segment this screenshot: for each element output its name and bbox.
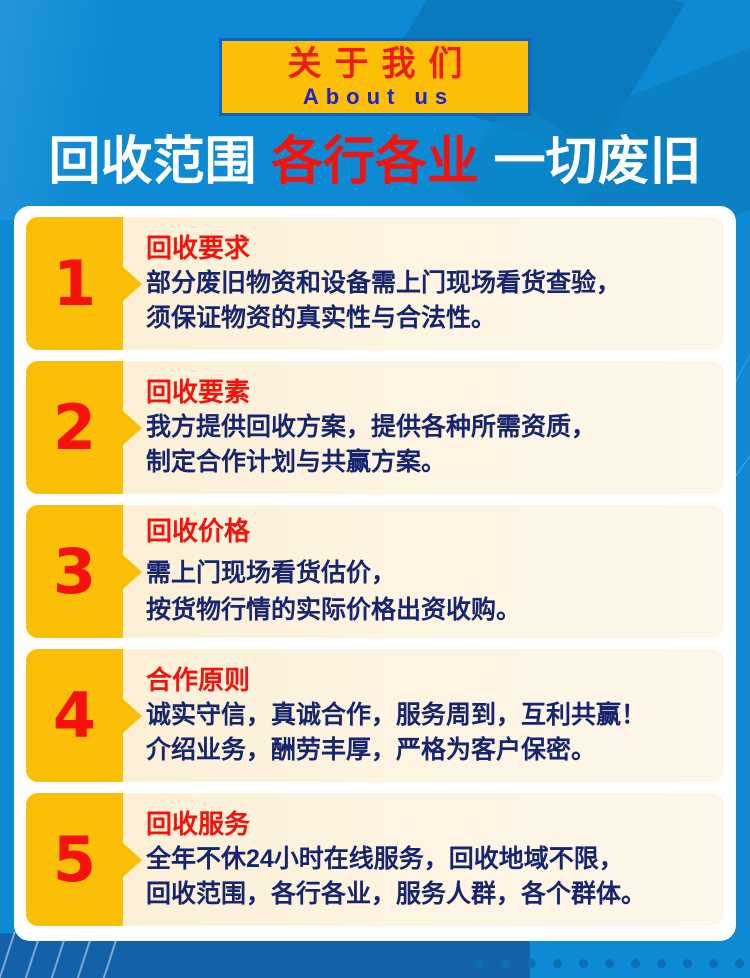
item-number: 2 [53,397,96,459]
list-item: 3 回收价格 需上门现场看货估价， 按货物行情的实际价格出资收购。 [26,505,724,638]
item-number: 3 [53,541,96,603]
headline-part-2: 各行各业 [271,133,479,191]
item-line-2: 须保证物资的真实性与合法性。 [146,301,710,336]
item-content: 回收价格 需上门现场看货估价， 按货物行情的实际价格出资收购。 [146,505,710,638]
badge-arrow-icon [123,411,142,445]
bottom-dots-pattern [475,959,744,968]
item-number: 5 [53,829,96,891]
badge-arrow-icon [123,699,142,733]
list-item: 2 回收要素 我方提供回收方案，提供各种所需资质， 制定合作计划与共赢方案。 [26,361,724,494]
item-content: 回收服务 全年不休24小时在线服务，回收地域不限， 回收范围，各行各业，服务人群… [146,793,710,926]
item-line-1: 部分废旧物资和设备需上门现场看货查验， [146,266,710,301]
badge-arrow-icon [123,555,142,589]
content-panel: 1 回收要求 部分废旧物资和设备需上门现场看货查验， 须保证物资的真实性与合法性… [14,206,736,941]
item-line-2: 回收范围，各行各业，服务人群，各个群体。 [146,877,710,912]
item-number: 4 [53,685,96,747]
item-number: 1 [53,253,96,315]
badge-arrow-icon [123,267,142,301]
list-item: 5 回收服务 全年不休24小时在线服务，回收地域不限， 回收范围，各行各业，服务… [26,793,724,926]
item-line-1: 全年不休24小时在线服务，回收地域不限， [146,842,710,877]
page-headline: 回收范围 各行各业 一切废旧 [0,131,750,193]
item-title: 回收价格 [146,515,710,547]
item-title: 回收要素 [146,376,710,408]
item-line-2: 介绍业务，酬劳丰厚，严格为客户保密。 [146,733,710,768]
headline-part-3: 一切废旧 [493,133,701,191]
item-line-2: 制定合作计划与共赢方案。 [146,445,710,480]
item-line-2: 按货物行情的实际价格出资收购。 [146,592,710,629]
headline-part-1: 回收范围 [49,133,257,191]
badge-arrow-icon [123,843,142,877]
item-content: 回收要素 我方提供回收方案，提供各种所需资质， 制定合作计划与共赢方案。 [146,361,710,494]
title-banner: 关于我们 About us [219,38,531,116]
list-item: 1 回收要求 部分废旧物资和设备需上门现场看货查验， 须保证物资的真实性与合法性… [26,217,724,350]
item-title: 合作原则 [146,664,710,696]
item-line-1: 诚实守信，真诚合作，服务周到，互利共赢！ [146,698,710,733]
item-content: 合作原则 诚实守信，真诚合作，服务周到，互利共赢！ 介绍业务，酬劳丰厚，严格为客… [146,649,710,782]
item-number-badge: 1 [26,217,123,350]
item-title: 回收要求 [146,232,710,264]
item-content: 回收要求 部分废旧物资和设备需上门现场看货查验， 须保证物资的真实性与合法性。 [146,217,710,350]
item-line-1: 我方提供回收方案，提供各种所需资质， [146,410,710,445]
item-title: 回收服务 [146,808,710,840]
item-number-badge: 2 [26,361,123,494]
item-number-badge: 3 [26,505,123,638]
item-line-1: 需上门现场看货估价， [146,555,710,592]
list-item: 4 合作原则 诚实守信，真诚合作，服务周到，互利共赢！ 介绍业务，酬劳丰厚，严格… [26,649,724,782]
item-number-badge: 4 [26,649,123,782]
about-us-poster: 关于我们 About us 回收范围 各行各业 一切废旧 1 回收要求 部分废旧… [0,0,750,978]
title-chinese: 关于我们 [222,44,528,84]
title-english: About us [222,83,528,111]
item-number-badge: 5 [26,793,123,926]
